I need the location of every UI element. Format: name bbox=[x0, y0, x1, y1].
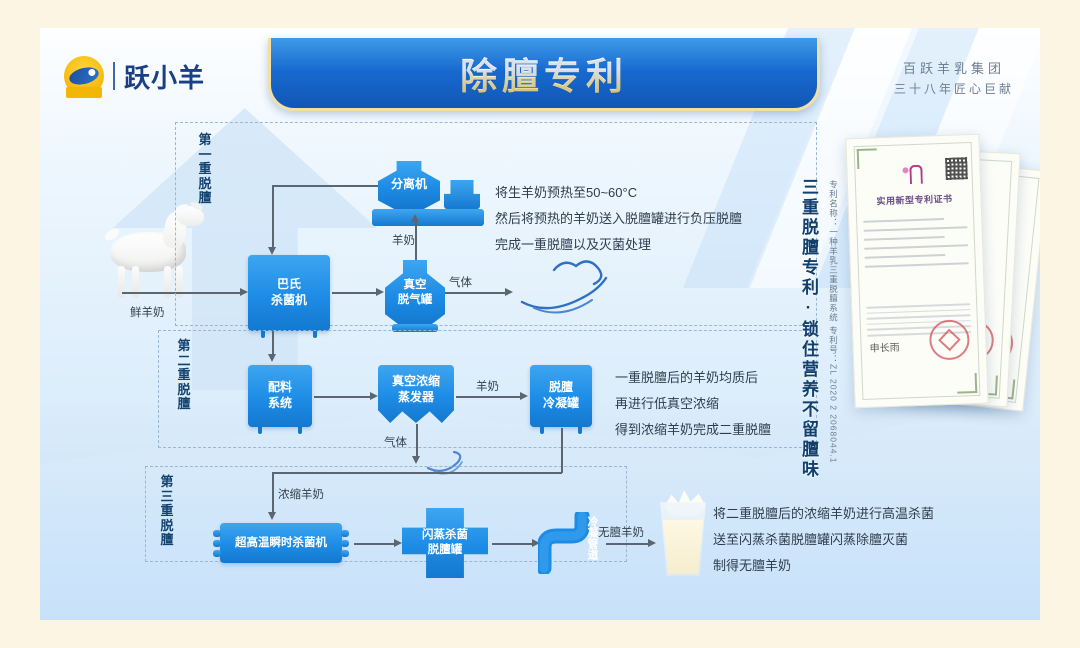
arrowhead-to-pasteurizer bbox=[268, 247, 276, 255]
stage-1-desc-line-2: 然后将预热的羊奶送入脱膻罐进行负压脱膻 bbox=[495, 206, 742, 232]
uht-sterilizer-label: 超高温瞬时杀菌机 bbox=[235, 536, 327, 551]
cnipa-emblem-icon bbox=[902, 165, 925, 188]
certificate-fields bbox=[863, 217, 969, 275]
certificate-front: 实用新型专利证书 申长雨 bbox=[845, 134, 988, 409]
flow-label-concentrated-milk: 浓缩羊奶 bbox=[278, 486, 324, 502]
arrow-gas-out bbox=[445, 292, 507, 294]
uht-port-3 bbox=[213, 550, 221, 557]
flow-label-deodorized-milk: 无膻羊奶 bbox=[598, 524, 644, 540]
certificate-signature: 申长雨 bbox=[869, 339, 900, 355]
ingredient-system-label: 配料 系统 bbox=[268, 380, 292, 411]
arrow-down-to-pasteurizer bbox=[272, 185, 274, 247]
uht-port-2 bbox=[213, 540, 221, 547]
logo-wordmark: 跃小羊 bbox=[124, 58, 205, 95]
condensation-pipeline-label: 冷凝管道 bbox=[585, 516, 598, 560]
deodorizing-condenser-tank: 脱膻 冷凝罐 bbox=[530, 365, 592, 427]
qr-code-icon bbox=[945, 157, 968, 180]
arrowhead-stage2-in bbox=[268, 354, 276, 362]
condensation-pipeline: 冷凝管道 bbox=[538, 512, 600, 574]
condenser-tank-label: 脱膻 冷凝罐 bbox=[543, 380, 579, 411]
stage-3-description: 将二重脱膻后的浓缩羊奶进行高温杀菌 送至闪蒸杀菌脱膻罐闪蒸除膻灭菌 制得无膻羊奶 bbox=[713, 501, 934, 579]
stage-2-description: 一重脱膻后的羊奶均质后 再进行低真空浓缩 得到浓缩羊奶完成二重脱膻 bbox=[615, 365, 771, 443]
stage-2-desc-line-1: 一重脱膻后的羊奶均质后 bbox=[615, 365, 771, 391]
vapor-swirl-icon-1 bbox=[520, 256, 610, 316]
arrowhead-milk-out bbox=[648, 539, 656, 547]
flow-label-goat-milk-2: 羊奶 bbox=[476, 378, 499, 394]
arrow-ingredient-to-evaporator bbox=[314, 396, 372, 398]
separator-base bbox=[372, 209, 484, 226]
stage-1-desc-line-1: 将生羊奶预热至50~60°C bbox=[495, 180, 742, 206]
arrow-uht-to-flash bbox=[354, 543, 396, 545]
arrowhead-condenser-in bbox=[520, 392, 528, 400]
stage-1-description: 将生羊奶预热至50~60°C 然后将预热的羊奶送入脱膻罐进行负压脱膻 完成一重脱… bbox=[495, 180, 742, 258]
arrowhead-to-vacuum-tank bbox=[376, 288, 384, 296]
milk-glass-photo bbox=[657, 488, 709, 576]
uht-port-1 bbox=[213, 530, 221, 537]
arrowhead-uht-in bbox=[268, 512, 276, 520]
corporate-tagline: 百跃羊乳集团 三十八年匠心巨献 bbox=[894, 58, 1014, 97]
uht-sterilizer: 超高温瞬时杀菌机 bbox=[220, 523, 342, 563]
arrowhead-evaporator-in bbox=[370, 392, 378, 400]
arrowhead-gas-down bbox=[412, 456, 420, 464]
pasteurizer-label: 巴氏 杀菌机 bbox=[271, 277, 307, 308]
uht-port-4 bbox=[341, 530, 349, 537]
vacuum-evaporator-label: 真空浓缩 蒸发器 bbox=[392, 374, 440, 405]
stage-2-label: 第二重脱膻 bbox=[173, 339, 195, 412]
arrow-pasteurizer-to-tank bbox=[332, 292, 378, 294]
arrow-stage1-to-stage2 bbox=[272, 331, 274, 356]
arrow-pipeline-to-milk bbox=[606, 543, 650, 545]
arrow-tank-to-separator bbox=[415, 220, 417, 260]
arrow-route-down-to-uht bbox=[272, 472, 274, 514]
stage-3-desc-line-1: 将二重脱膻后的浓缩羊奶进行高温杀菌 bbox=[713, 501, 934, 527]
brand-logo: 跃小羊 bbox=[64, 56, 205, 96]
flash-tank-label: 闪蒸杀菌 脱膻罐 bbox=[422, 528, 468, 558]
stage-2-desc-line-3: 得到浓缩羊奶完成二重脱膻 bbox=[615, 417, 771, 443]
arrowhead-to-separator bbox=[411, 214, 419, 222]
stage-3-desc-line-2: 送至闪蒸杀菌脱膻罐闪蒸除膻灭菌 bbox=[713, 527, 934, 553]
arrow-route-left bbox=[272, 472, 562, 474]
arrow-sep-to-down bbox=[272, 185, 378, 187]
patent-slogan: 三重脱膻专利·锁住营养不留膻味 bbox=[796, 178, 821, 480]
flow-label-gas-2: 气体 bbox=[384, 434, 407, 450]
stage-3-label: 第三重脱膻 bbox=[156, 475, 178, 548]
stage-1-desc-line-3: 完成一重脱膻以及灭菌处理 bbox=[495, 232, 742, 258]
vacuum-concentration-evaporator: 真空浓缩 蒸发器 bbox=[378, 365, 454, 423]
arrowhead-flash-in bbox=[394, 539, 402, 547]
title-banner: 除膻专利 bbox=[268, 38, 820, 111]
stage-2-desc-line-2: 再进行低真空浓缩 bbox=[615, 391, 771, 417]
arrowhead-gas-out bbox=[505, 288, 513, 296]
pasteurizer: 巴氏 杀菌机 bbox=[248, 255, 330, 331]
arrow-flash-to-pipeline bbox=[492, 543, 534, 545]
stage-3-desc-line-3: 制得无膻羊奶 bbox=[713, 553, 934, 579]
corp-name: 百跃羊乳集团 bbox=[894, 58, 1014, 77]
fresh-milk-label: 鲜羊奶 bbox=[130, 304, 165, 320]
vacuum-degas-tank-label: 真空 脱气罐 bbox=[398, 278, 433, 308]
logo-divider bbox=[113, 62, 115, 90]
flow-label-goat-milk-1: 羊奶 bbox=[392, 232, 415, 248]
uht-port-5 bbox=[341, 540, 349, 547]
arrow-gas-down bbox=[416, 424, 418, 458]
arrow-evaporator-to-condenser bbox=[456, 396, 522, 398]
uht-port-6 bbox=[341, 550, 349, 557]
patent-certificates: 实用新型专利证书 申长雨 bbox=[820, 128, 1040, 458]
ingredient-system: 配料 系统 bbox=[248, 365, 312, 427]
page-title: 除膻专利 bbox=[460, 46, 628, 100]
corp-subtitle: 三十八年匠心巨献 bbox=[894, 80, 1014, 97]
stage-1-label: 第一重脱膻 bbox=[194, 133, 216, 206]
ingredient-system-legs bbox=[248, 427, 312, 434]
poster-canvas: 跃小羊 除膻专利 百跃羊乳集团 三十八年匠心巨献 鲜羊奶 第一重脱膻 分离机 巴… bbox=[40, 28, 1040, 620]
baiyue-dairy-logo-icon bbox=[64, 56, 104, 96]
arrow-condenser-down bbox=[561, 428, 563, 473]
flow-label-gas-1: 气体 bbox=[449, 274, 472, 290]
separator-label: 分离机 bbox=[391, 177, 427, 193]
